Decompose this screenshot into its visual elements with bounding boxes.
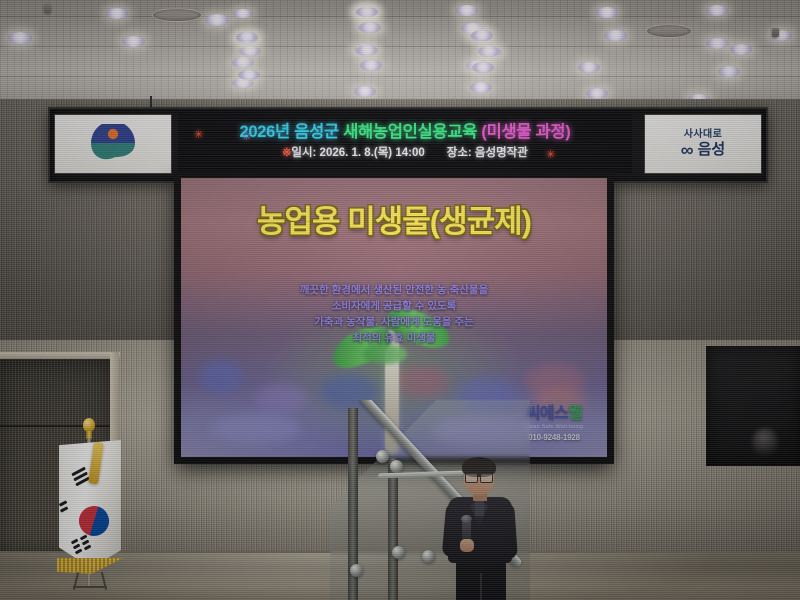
banner-title-program: 새해농업인실용교육 [343,123,481,141]
banner-subtitle-line: ※일시: 2026. 1. 8.(목) 14:00장소: 음성명작관 [178,144,632,160]
lecture-hall-photo: ✳ ✳ ✳ 2026년 음성군 새해농업인실용교육 (미생물 과정) ※일시: … [0,0,800,600]
ceiling-downlight [578,62,600,73]
ceiling-downlight [238,70,260,80]
presenter-shirt [475,500,484,516]
trigram-bar [84,545,91,551]
korean-national-flag [55,418,125,600]
trigram-bar [75,549,82,555]
ceiling-downlight [356,7,378,17]
ceiling-downlight [360,60,382,71]
glass-clamp [376,450,389,463]
bokeh-blob [211,414,301,444]
glass-clamp [392,546,405,559]
company-name-blue: 씨에스 [526,405,568,422]
flag-finial [83,418,95,432]
ceiling-downlight [233,9,253,18]
ceiling-downlight [596,7,618,18]
bokeh-blob [255,384,307,414]
presenter [440,455,524,600]
ceiling-downlight [478,46,500,57]
ceiling-downlight [586,88,608,99]
ceiling-air-diffuser [152,8,202,22]
brand-top-text: 사사대로 [684,130,722,140]
taeguk-blue-lobe [94,514,114,534]
brand-bottom-text: 음성 [698,142,726,157]
ceiling-downlight [356,45,378,56]
asterisk-icon: ※ [282,147,291,159]
eumseong-city-brand-logo: 사사대로 ∞ 음성 [644,114,762,174]
slide-body-line-4: 최적의 유효 미생물 [181,330,607,346]
ceiling-downlight [205,14,229,26]
banner-place: 장소: 음성명작관 [447,147,528,159]
brand-bottom-row: ∞ 음성 [681,141,725,159]
eyeglasses-icon [465,473,493,481]
ceiling-downlight [239,46,261,56]
slide-body-line-3: 가축과 농작물, 사람에게 도움을 주는 [181,314,607,330]
ceiling-downlight [456,5,478,16]
taeguk-red-lobe [74,508,94,528]
ceiling-downlight [706,5,728,16]
slide-body-line-2: 소비자에게 공급할 수 있도록 [181,298,607,314]
ceiling-downlight [706,38,729,49]
banner-title-year-county: 2026년 음성군 [240,123,344,141]
slide-body-text: 깨끗한 환경에서 생산된 안전한 농,축산물을 소비자에게 공급할 수 있도록 … [181,282,607,346]
ceiling-downlight [604,30,627,41]
ceiling-downlight [471,30,493,41]
flag-fringe [57,558,123,574]
banner-title-line: 2026년 음성군 새해농업인실용교육 (미생물 과정) [178,118,632,142]
ceiling-downlight [718,66,740,77]
presenter-leg-split [480,573,482,600]
bokeh-blob [199,360,243,394]
ceiling-downlight [122,36,145,47]
company-name-green: 웰 [568,405,582,422]
banner-title-course: (미생물 과정) [481,123,570,141]
ceiling-downlight [359,22,381,33]
glass-clamp [390,460,403,473]
ceiling-air-diffuser [646,24,692,38]
trigram-bar [60,506,68,512]
flag-cloth [59,440,121,568]
ceiling-downlight [472,62,494,73]
balustrade-post [388,458,398,600]
glass-clamp [350,564,363,577]
microphone-head [461,515,472,523]
ceiling-downlight [232,57,254,68]
banner-date: 일시: 2026. 1. 8.(목) 14:00 [291,147,424,159]
slide-title: 농업용 미생물(생균제) [181,196,607,241]
sprinkler-head [772,28,779,37]
flag-stand-base [73,586,107,588]
ceiling-downlight [106,8,128,19]
ceiling-downlight [236,32,258,42]
sprout-leaf-center [363,344,407,364]
ceiling-downlight [8,32,32,44]
sprinkler-head [44,4,51,13]
taeguk-circle-icon [74,501,115,542]
ceiling-downlight [354,86,376,97]
alcove-header [0,352,120,359]
ceiling-downlight [730,44,752,55]
infinity-icon: ∞ [681,141,694,159]
ceiling-downlight [470,82,492,93]
led-banner-screen: ✳ ✳ ✳ 2026년 음성군 새해농업인실용교육 (미생물 과정) ※일시: … [178,112,632,174]
eumseong-county-emblem [54,114,172,174]
presenter-hand [460,539,474,552]
slide-body-line-1: 깨끗한 환경에서 생산된 안전한 농,축산물을 [181,282,607,298]
glass-clamp [422,550,435,563]
right-panel-reflection [752,428,778,456]
